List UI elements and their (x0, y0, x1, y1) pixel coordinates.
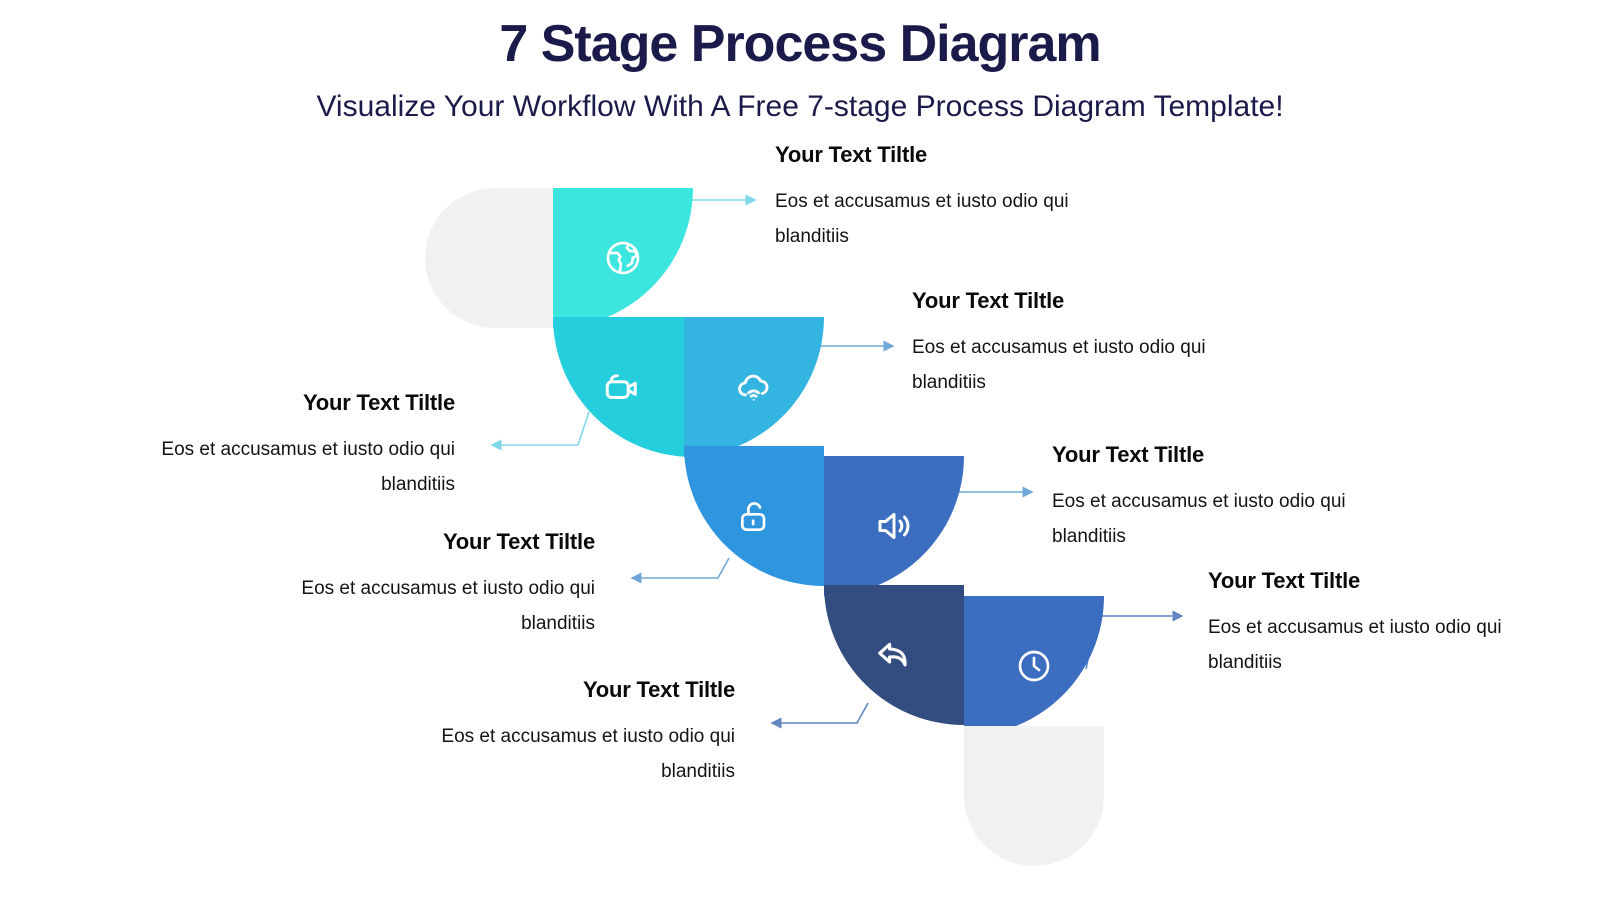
stage-segment-7[interactable] (964, 596, 1104, 736)
stage-7-title: Your Text Tiltle (1208, 568, 1538, 594)
stage-6-title: Your Text Tiltle (405, 677, 735, 703)
stage-segment-5[interactable] (824, 456, 964, 596)
stage-5-title: Your Text Tiltle (1052, 442, 1382, 468)
reply-arrow-icon (824, 585, 964, 725)
clock-icon (964, 596, 1104, 736)
cloud-wifi-icon (684, 317, 824, 457)
process-diagram: Your Text Tiltle Eos et accusamus et ius… (0, 0, 1600, 900)
stage-segment-6[interactable] (824, 585, 964, 725)
globe-icon (553, 188, 693, 328)
stage-6-body: Eos et accusamus et iusto odio qui bland… (405, 719, 735, 789)
stage-text-7: Your Text Tiltle Eos et accusamus et ius… (1208, 568, 1538, 680)
stage-text-4: Your Text Tiltle Eos et accusamus et ius… (265, 529, 595, 641)
stage-5-body: Eos et accusamus et iusto odio qui bland… (1052, 484, 1382, 554)
stage-segment-3[interactable] (684, 317, 824, 457)
stage-3-title: Your Text Tiltle (912, 288, 1242, 314)
start-cap (425, 188, 565, 328)
stage-3-body: Eos et accusamus et iusto odio qui bland… (912, 330, 1242, 400)
stage-text-5: Your Text Tiltle Eos et accusamus et ius… (1052, 442, 1382, 554)
video-camera-icon (553, 317, 693, 457)
stage-2-title: Your Text Tiltle (125, 390, 455, 416)
stage-2-body: Eos et accusamus et iusto odio qui bland… (125, 432, 455, 502)
stage-text-2: Your Text Tiltle Eos et accusamus et ius… (125, 390, 455, 502)
end-cap (964, 726, 1104, 866)
stage-1-title: Your Text Tiltle (775, 142, 1105, 168)
stage-text-3: Your Text Tiltle Eos et accusamus et ius… (912, 288, 1242, 400)
stage-4-title: Your Text Tiltle (265, 529, 595, 555)
stage-1-body: Eos et accusamus et iusto odio qui bland… (775, 184, 1105, 254)
stage-7-body: Eos et accusamus et iusto odio qui bland… (1208, 610, 1538, 680)
stage-segment-2[interactable] (553, 317, 693, 457)
stage-segment-1[interactable] (553, 188, 693, 328)
stage-segment-4[interactable] (684, 446, 824, 586)
stage-text-1: Your Text Tiltle Eos et accusamus et ius… (775, 142, 1105, 254)
stage-4-body: Eos et accusamus et iusto odio qui bland… (265, 571, 595, 641)
speaker-icon (824, 456, 964, 596)
unlock-icon (684, 446, 824, 586)
stage-text-6: Your Text Tiltle Eos et accusamus et ius… (405, 677, 735, 789)
